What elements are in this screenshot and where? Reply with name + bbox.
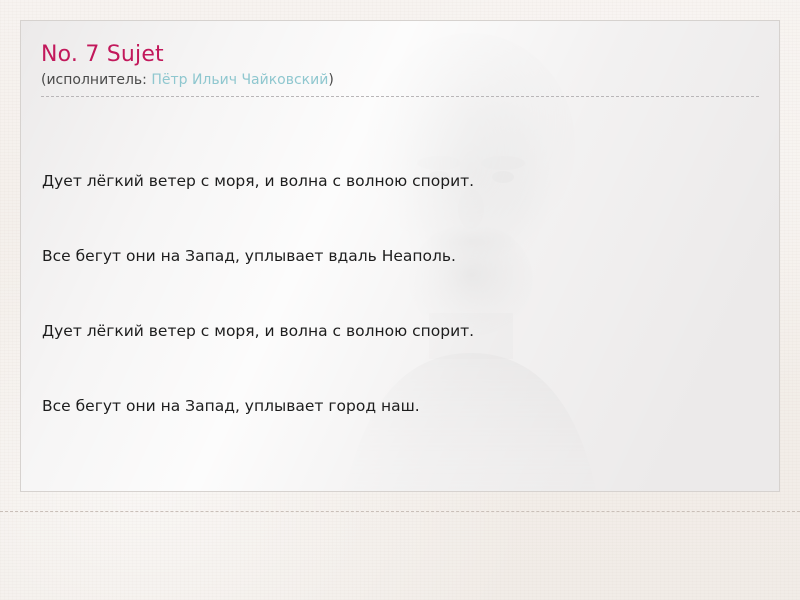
composer-link[interactable]: Пётр Ильич Чайковский	[151, 72, 328, 88]
performer-line: (исполнитель: Пётр Ильич Чайковский)	[41, 71, 759, 90]
content-panel: No. 7 Sujet (исполнитель: Пётр Ильич Чай…	[20, 20, 780, 492]
performer-suffix: )	[328, 72, 333, 88]
lyrics-body: Дует лёгкий ветер с моря, и волна с волн…	[42, 119, 742, 492]
lyric-line: Дует лёгкий ветер с моря, и волна с волн…	[42, 169, 742, 194]
bottom-divider	[0, 511, 800, 512]
lyric-line: Все бегут они на Запад, уплывает город н…	[42, 394, 742, 419]
performer-label: (исполнитель:	[41, 72, 151, 88]
lyric-line: Все бегут они на Запад, уплывает вдаль Н…	[42, 244, 742, 269]
slide-header: No. 7 Sujet (исполнитель: Пётр Ильич Чай…	[41, 41, 759, 97]
lyric-spacer	[42, 469, 742, 492]
lyric-line: Дует лёгкий ветер с моря, и волна с волн…	[42, 319, 742, 344]
page-title: No. 7 Sujet	[41, 41, 759, 69]
